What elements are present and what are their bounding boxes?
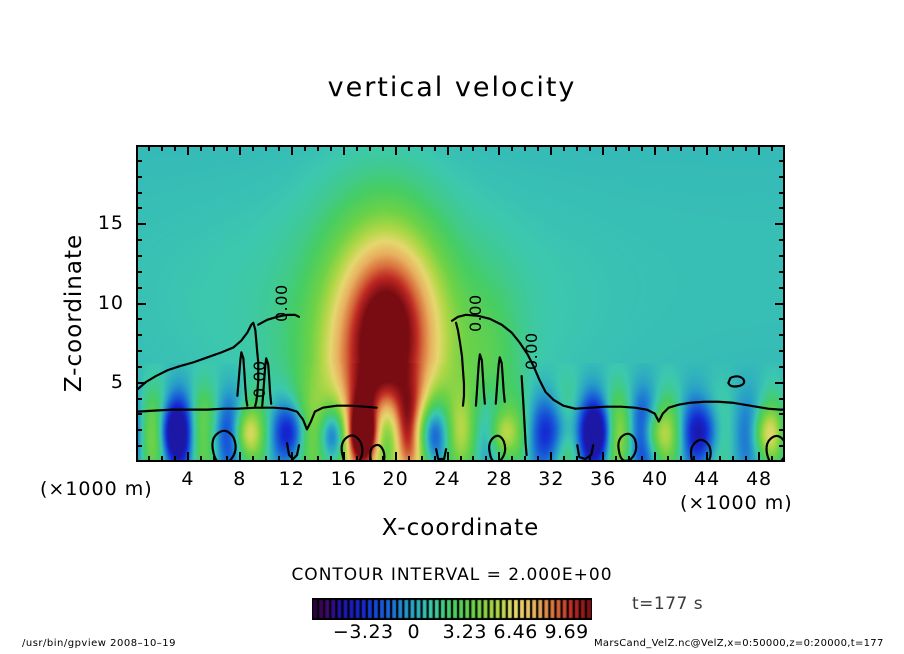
x-tick [239, 452, 241, 462]
x-tick-top [472, 145, 474, 151]
x-tick-top [641, 145, 643, 151]
x-tick [252, 456, 254, 462]
y-tick-right [779, 287, 785, 289]
y-tick-label: 5 [84, 371, 124, 393]
x-tick [680, 456, 682, 462]
x-tick [537, 456, 539, 462]
x-tick [382, 456, 384, 462]
x-tick-top [239, 145, 241, 155]
x-tick-label: 16 [319, 468, 369, 490]
x-tick [356, 456, 358, 462]
x-tick-label: 8 [215, 468, 265, 490]
y-tick-right [779, 445, 785, 447]
x-tick [369, 456, 371, 462]
y-tick [136, 160, 142, 162]
y-tick [136, 303, 146, 305]
x-tick [304, 456, 306, 462]
x-tick [434, 456, 436, 462]
x-tick-top [602, 145, 604, 155]
x-tick [511, 456, 513, 462]
x-tick [524, 456, 526, 462]
x-tick-top [667, 145, 669, 151]
x-tick-top [511, 145, 513, 151]
y-tick [136, 223, 146, 225]
x-tick-top [732, 145, 734, 151]
x-tick [291, 452, 293, 462]
x-tick-top [161, 145, 163, 151]
y-tick-right [779, 429, 785, 431]
x-tick-top [524, 145, 526, 151]
footer-dataset: MarsCand_VelZ.nc@VelZ,x=0:50000,z=0:2000… [594, 638, 884, 649]
x-tick [771, 456, 773, 462]
x-axis-title: X-coordinate [136, 515, 785, 541]
x-tick-top [485, 145, 487, 151]
y-tick [136, 318, 142, 320]
x-tick-top [278, 145, 280, 151]
x-tick-top [343, 145, 345, 155]
x-tick-top [745, 145, 747, 151]
y-tick [136, 287, 142, 289]
x-tick-top [654, 145, 656, 155]
x-tick [485, 456, 487, 462]
page-title: vertical velocity [0, 72, 904, 103]
x-tick [174, 456, 176, 462]
x-tick-label: 48 [734, 468, 784, 490]
x-tick-top [187, 145, 189, 155]
time-label: t=177 s [632, 594, 703, 614]
y-tick [136, 176, 142, 178]
y-tick-right [779, 255, 785, 257]
y-tick [136, 207, 142, 209]
x-tick-top [498, 145, 500, 155]
zero-contour-lines [138, 147, 783, 460]
x-tick-top [460, 145, 462, 151]
x-tick-top [226, 145, 228, 151]
x-tick-top [421, 145, 423, 151]
colorbar [312, 598, 592, 620]
x-tick-label: 12 [267, 468, 317, 490]
x-tick-top [317, 145, 319, 151]
y-tick-right [775, 303, 785, 305]
x-tick-top [693, 145, 695, 151]
x-tick-label: 32 [526, 468, 576, 490]
x-tick-top [265, 145, 267, 151]
contour-value-label: 0.00 [522, 332, 541, 370]
x-tick [278, 456, 280, 462]
contour-interval-text: CONTOUR INTERVAL = 2.000E+00 [0, 565, 904, 585]
y-tick [136, 334, 142, 336]
x-axis-unit-right: (×1000 m) [680, 492, 793, 514]
x-tick [498, 452, 500, 462]
x-tick [563, 456, 565, 462]
x-tick-label: 28 [474, 468, 524, 490]
y-tick [136, 382, 146, 384]
x-tick-label: 4 [163, 468, 213, 490]
x-tick-label: 36 [578, 468, 628, 490]
x-tick-label: 20 [371, 468, 421, 490]
y-tick [136, 239, 142, 241]
y-tick-label: 15 [84, 212, 124, 234]
y-tick-right [779, 160, 785, 162]
x-tick-top [304, 145, 306, 151]
x-tick-top [356, 145, 358, 151]
x-tick [472, 456, 474, 462]
x-tick [317, 456, 319, 462]
x-tick-top [537, 145, 539, 151]
x-tick-top [200, 145, 202, 151]
x-tick-top [252, 145, 254, 151]
y-tick-right [779, 398, 785, 400]
y-tick [136, 350, 142, 352]
x-tick [719, 456, 721, 462]
x-tick-top [213, 145, 215, 151]
x-tick-top [291, 145, 293, 155]
contour-value-label: 0.00 [272, 284, 291, 322]
x-tick-top [719, 145, 721, 151]
y-tick [136, 255, 142, 257]
y-tick-label: 10 [84, 292, 124, 314]
x-tick [226, 456, 228, 462]
plot-frame [136, 145, 785, 462]
y-tick-right [779, 192, 785, 194]
x-tick [706, 452, 708, 462]
x-tick [395, 452, 397, 462]
y-tick-right [779, 334, 785, 336]
x-tick [187, 452, 189, 462]
x-tick [628, 456, 630, 462]
y-tick-right [779, 176, 785, 178]
x-tick [550, 452, 552, 462]
y-tick [136, 271, 142, 273]
y-tick [136, 398, 142, 400]
x-tick-top [628, 145, 630, 151]
x-tick-top [615, 145, 617, 151]
y-tick-right [779, 366, 785, 368]
y-tick-right [775, 223, 785, 225]
x-tick-label: 24 [423, 468, 473, 490]
x-tick-label: 44 [682, 468, 732, 490]
y-tick-right [779, 207, 785, 209]
y-tick-right [775, 382, 785, 384]
y-tick-right [779, 318, 785, 320]
x-tick [200, 456, 202, 462]
colorbar-tick-label: 9.69 [537, 621, 597, 643]
y-tick-right [779, 239, 785, 241]
x-tick-top [408, 145, 410, 151]
contour-value-label: 0.00 [250, 360, 269, 398]
y-tick-right [779, 413, 785, 415]
x-tick-top [395, 145, 397, 155]
x-tick-top [758, 145, 760, 155]
x-tick [161, 456, 163, 462]
x-tick-top [706, 145, 708, 155]
x-tick [641, 456, 643, 462]
x-axis-unit-left: (×1000 m) [40, 478, 153, 500]
x-tick [408, 456, 410, 462]
x-tick-top [589, 145, 591, 151]
x-tick-top [680, 145, 682, 151]
x-tick-label: 40 [630, 468, 680, 490]
x-tick [447, 452, 449, 462]
x-tick-top [447, 145, 449, 155]
x-tick [330, 456, 332, 462]
x-tick [265, 456, 267, 462]
y-tick [136, 413, 142, 415]
footer-command: /usr/bin/gpview 2008–10–19 [22, 638, 176, 649]
x-tick [460, 456, 462, 462]
x-tick-top [576, 145, 578, 151]
x-tick [602, 452, 604, 462]
y-tick [136, 445, 142, 447]
x-tick [693, 456, 695, 462]
y-tick-right [779, 350, 785, 352]
x-tick [745, 456, 747, 462]
x-tick-top [174, 145, 176, 151]
x-tick-top [382, 145, 384, 151]
y-tick [136, 366, 142, 368]
x-tick-top [369, 145, 371, 151]
y-axis-title: Z-coordinate [61, 213, 87, 413]
x-tick [615, 456, 617, 462]
y-tick [136, 429, 142, 431]
x-tick [343, 452, 345, 462]
x-tick-top [563, 145, 565, 151]
y-tick [136, 192, 142, 194]
x-tick [213, 456, 215, 462]
x-tick [758, 452, 760, 462]
x-tick [148, 456, 150, 462]
y-tick-right [779, 271, 785, 273]
x-tick-top [550, 145, 552, 155]
x-tick [576, 456, 578, 462]
x-tick [589, 456, 591, 462]
x-tick-top [771, 145, 773, 151]
x-tick [421, 456, 423, 462]
x-tick-top [148, 145, 150, 151]
x-tick [732, 456, 734, 462]
x-tick [654, 452, 656, 462]
x-tick-top [434, 145, 436, 151]
colorbar-gradient [312, 598, 592, 620]
x-tick-top [330, 145, 332, 151]
x-tick [667, 456, 669, 462]
contour-value-label: 0.00 [466, 294, 485, 332]
